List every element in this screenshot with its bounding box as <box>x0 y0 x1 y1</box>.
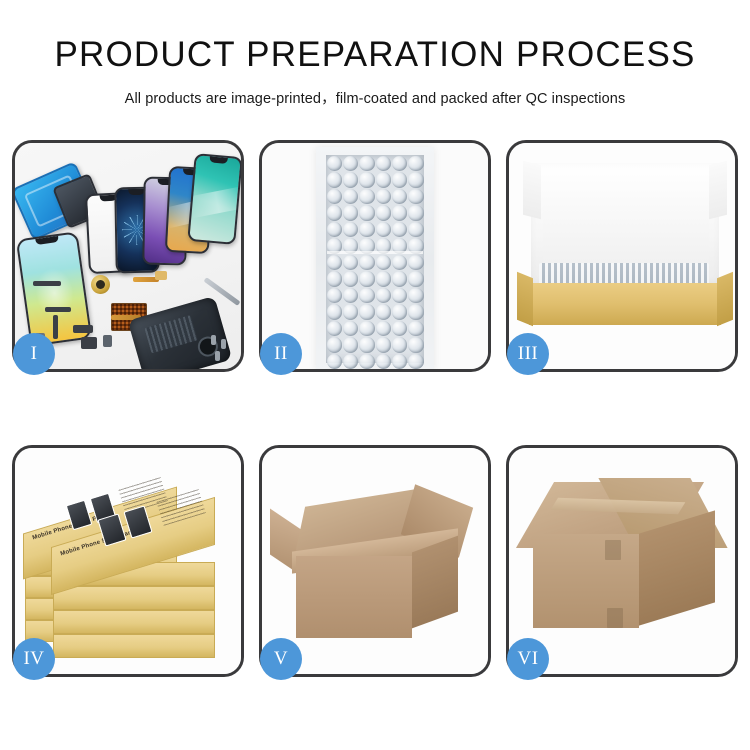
bubble-icon <box>327 304 342 320</box>
step-badge-5: V <box>260 638 302 680</box>
page-subtitle: All products are image-printed，film-coat… <box>0 87 750 108</box>
box-stack: Mobile Phone Spare Parts Mobile Phone Sp… <box>23 466 239 666</box>
bubble-icon <box>359 222 374 238</box>
page-title: PRODUCT PREPARATION PROCESS <box>0 36 750 75</box>
screw-icon <box>215 351 220 361</box>
bubble-icon <box>327 172 342 188</box>
screw-icon <box>221 339 226 349</box>
bubble-icon <box>343 205 358 221</box>
wrap-seam <box>327 251 423 254</box>
bubble-icon <box>408 288 423 304</box>
process-step-2: II <box>259 140 491 372</box>
step-1-image <box>15 143 241 369</box>
bubble-icon <box>376 205 391 221</box>
bubble-icon <box>392 172 407 188</box>
stacked-box <box>53 586 215 610</box>
bubble-icon <box>376 354 391 370</box>
carton-front <box>533 534 639 628</box>
box-foam-insert <box>543 195 709 269</box>
bubble-icon <box>327 288 342 304</box>
bubble-icon <box>343 321 358 337</box>
bubble-icon <box>343 337 358 353</box>
notch-icon <box>209 156 227 164</box>
bubble-icon <box>376 222 391 238</box>
bubble-icon <box>408 321 423 337</box>
kraft-box-base <box>529 283 721 325</box>
step-3-image <box>509 143 735 369</box>
step-badge-4: IV <box>13 638 55 680</box>
bubble-icon <box>392 189 407 205</box>
bubble-icon <box>376 288 391 304</box>
step-2-image <box>262 143 488 369</box>
bubble-icon <box>408 156 423 172</box>
bubble-icon <box>343 172 358 188</box>
notch-icon <box>35 236 59 245</box>
notch-icon <box>128 189 144 195</box>
bubble-icon <box>359 288 374 304</box>
bubble-icon <box>376 255 391 271</box>
step-5-image <box>262 448 488 674</box>
bubble-icon <box>327 271 342 287</box>
bubble-icon <box>359 337 374 353</box>
process-grid: I II III <box>12 140 738 677</box>
bubble-icon <box>359 354 374 370</box>
bubble-icon <box>327 205 342 221</box>
step-badge-3: III <box>507 333 549 375</box>
bubble-icon <box>359 321 374 337</box>
bubble-icon <box>359 189 374 205</box>
bubble-icon <box>392 288 407 304</box>
bubble-icon <box>327 222 342 238</box>
part-coil-icon <box>91 275 110 294</box>
bubble-icon <box>359 304 374 320</box>
stacked-box <box>53 634 215 658</box>
carton-flap-seam <box>607 608 623 628</box>
carton-flap-seam <box>605 540 621 560</box>
step-6-image <box>509 448 735 674</box>
bubble-icon <box>376 156 391 172</box>
bubble-icon <box>359 205 374 221</box>
bubble-icon <box>408 205 423 221</box>
bubble-icon <box>392 337 407 353</box>
carton-side <box>412 536 458 629</box>
bubble-icon <box>327 189 342 205</box>
bubble-icon <box>343 288 358 304</box>
process-step-4: Mobile Phone Spare Parts Mobile Phone Sp… <box>12 445 244 677</box>
bubble-icon <box>343 304 358 320</box>
bubble-icon <box>408 189 423 205</box>
bubble-icon <box>392 156 407 172</box>
bubble-icon <box>408 222 423 238</box>
bubble-icon <box>343 189 358 205</box>
part-speaker-icon <box>73 325 93 333</box>
infographic-page: PRODUCT PREPARATION PROCESS All products… <box>0 0 750 750</box>
step-badge-1: I <box>13 333 55 375</box>
bubble-icon <box>327 321 342 337</box>
step-badge-6: VI <box>507 638 549 680</box>
process-step-5: V <box>259 445 491 677</box>
screw-icon <box>211 335 216 345</box>
bubble-icon <box>359 172 374 188</box>
bubble-icon <box>376 321 391 337</box>
process-step-3: III <box>506 140 738 372</box>
bubble-icon <box>343 354 358 370</box>
bubble-icon <box>392 271 407 287</box>
part-connector-icon <box>33 281 61 286</box>
bubble-icon <box>408 255 423 271</box>
bubble-icon <box>343 271 358 287</box>
bubble-icon <box>392 304 407 320</box>
bubble-icon <box>392 205 407 221</box>
bubble-icon <box>343 222 358 238</box>
process-step-1: I <box>12 140 244 372</box>
bubble-icon <box>408 172 423 188</box>
step-4-image: Mobile Phone Spare Parts Mobile Phone Sp… <box>15 448 241 674</box>
bubble-icon <box>359 156 374 172</box>
bubble-icon <box>376 189 391 205</box>
bubble-icon <box>392 354 407 370</box>
bubble-icon <box>359 255 374 271</box>
step-badge-2: II <box>260 333 302 375</box>
bubble-wrap-texture <box>326 155 424 363</box>
bubble-icon <box>343 255 358 271</box>
part-camera-icon <box>81 337 97 349</box>
part-bracket-icon <box>45 307 71 312</box>
part-rail-icon <box>53 315 58 339</box>
bubble-icon <box>408 271 423 287</box>
bubble-icon <box>327 354 342 370</box>
bubble-icon <box>327 337 342 353</box>
bubble-icon <box>359 271 374 287</box>
bubble-icon <box>376 172 391 188</box>
carton-front <box>296 556 412 638</box>
bubble-icon <box>376 304 391 320</box>
bubble-icon <box>327 156 342 172</box>
part-gold-chip-icon <box>155 271 167 280</box>
process-step-6: VI <box>506 445 738 677</box>
bubble-icon <box>392 255 407 271</box>
bubble-icon <box>408 304 423 320</box>
teal-screen-icon <box>187 153 241 245</box>
bubble-icon <box>408 354 423 370</box>
bubble-icon <box>343 156 358 172</box>
bubble-icon <box>392 321 407 337</box>
bubble-icon <box>376 271 391 287</box>
bubble-icon <box>408 337 423 353</box>
header: PRODUCT PREPARATION PROCESS All products… <box>0 0 750 108</box>
bubble-icon <box>327 255 342 271</box>
part-button-icon <box>103 335 112 347</box>
bubble-icon <box>392 222 407 238</box>
stacked-box <box>53 610 215 634</box>
bubble-icon <box>376 337 391 353</box>
